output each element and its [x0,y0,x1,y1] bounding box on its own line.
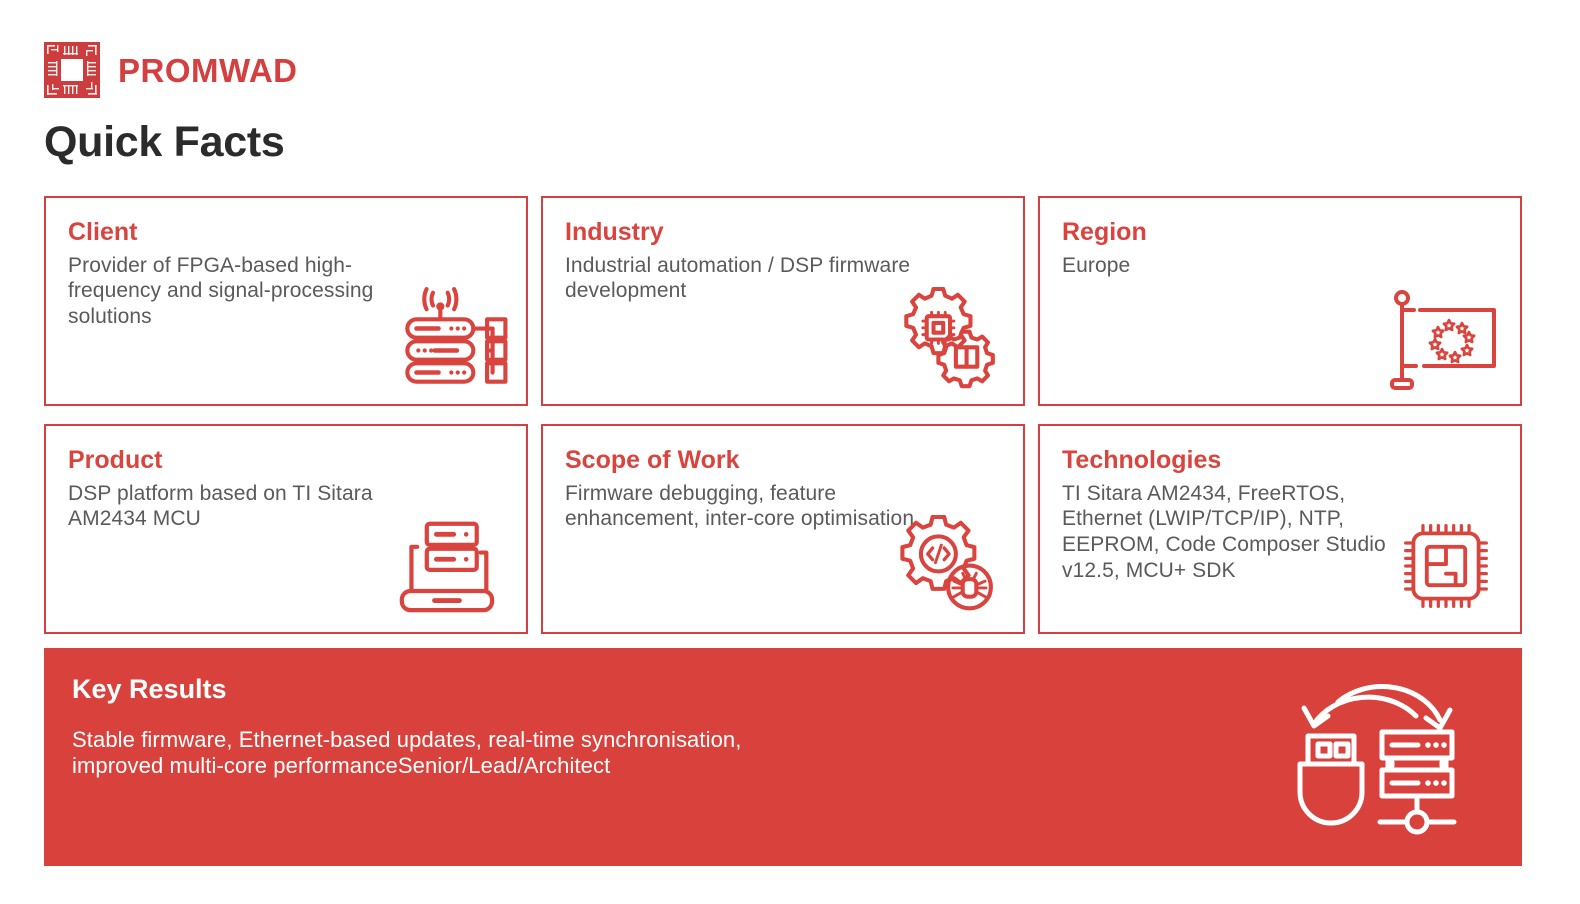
laptop-server-icon [396,518,496,614]
card-title: Region [1062,218,1498,247]
card-title: Industry [565,218,1001,247]
card-technologies: Technologies TI Sitara AM2434, FreeRTOS,… [1038,424,1522,634]
card-text: Firmware debugging, feature enhancement,… [565,481,920,532]
card-region: Region Europe [1038,196,1522,406]
card-text: DSP platform based on TI Sitara AM2434 M… [68,481,423,532]
card-title: Technologies [1062,446,1498,475]
slide-root: PROMWAD Quick Facts Client Provider of F… [0,0,1580,904]
brand-name: PROMWAD [118,54,298,87]
card-scope-of-work: Scope of Work Firmware debugging, featur… [541,424,1025,634]
card-title: Product [68,446,504,475]
key-results-banner: Key Results Stable firmware, Ethernet-ba… [44,648,1522,866]
card-text: TI Sitara AM2434, FreeRTOS, Ethernet (LW… [1062,481,1417,583]
quick-facts-grid: Client Provider of FPGA-based high-frequ… [44,196,1522,634]
card-text: Provider of FPGA-based high-frequency an… [68,253,423,330]
european-union-flag-icon [1390,288,1500,396]
card-text: Europe [1062,253,1417,279]
card-title: Scope of Work [565,446,1001,475]
banner-text: Stable firmware, Ethernet-based updates,… [72,727,812,779]
page-title: Quick Facts [44,120,284,165]
card-title: Client [68,218,504,247]
brand-header: PROMWAD [44,42,298,98]
card-industry: Industry Industrial automation / DSP fir… [541,196,1025,406]
card-text: Industrial automation / DSP firmware dev… [565,253,920,304]
card-client: Client Provider of FPGA-based high-frequ… [44,196,528,406]
circuit-chip-logo-icon [44,42,100,98]
card-product: Product DSP platform based on TI Sitara … [44,424,528,634]
usb-server-sync-icon [1292,678,1462,838]
banner-title: Key Results [72,674,1494,705]
